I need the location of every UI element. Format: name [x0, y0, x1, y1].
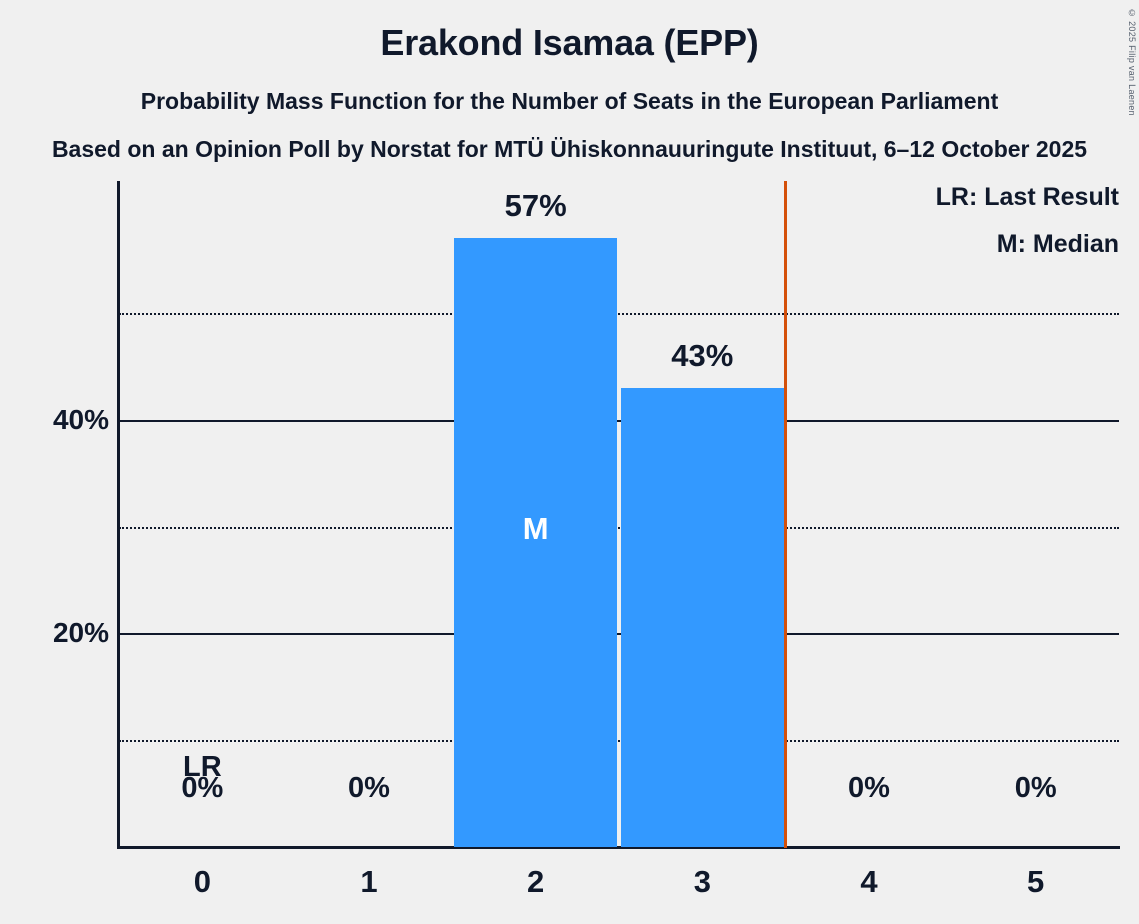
gridline-10	[119, 740, 1119, 742]
y-tick-label: 20%	[23, 617, 109, 649]
chart-page: Erakond Isamaa (EPP) Probability Mass Fu…	[0, 0, 1139, 924]
bar-value-label-seat-1: 0%	[287, 772, 451, 805]
chart-subtitle: Probability Mass Function for the Number…	[0, 88, 1139, 115]
chart-source-line: Based on an Opinion Poll by Norstat for …	[52, 136, 1087, 163]
page-title: Erakond Isamaa (EPP)	[0, 22, 1139, 64]
copyright-notice: © 2025 Filip van Laenen	[1127, 8, 1137, 116]
last-result-line	[784, 181, 787, 848]
x-axis-line	[117, 846, 1120, 849]
bar-seat-2[interactable]: M	[454, 238, 618, 847]
x-tick-label-5: 5	[952, 864, 1119, 900]
bar-value-label-seat-3: 43%	[621, 338, 785, 374]
y-axis-line	[117, 181, 120, 848]
x-tick-label-2: 2	[452, 864, 619, 900]
gridline-30	[119, 527, 1119, 529]
gridline-40	[119, 420, 1119, 422]
gridline-20	[119, 633, 1119, 635]
x-tick-label-4: 4	[786, 864, 953, 900]
x-tick-label-3: 3	[619, 864, 786, 900]
bar-seat-3[interactable]	[621, 388, 785, 847]
y-tick-label: 40%	[23, 404, 109, 436]
plot-area: 20%40% 0%LR0%M57%43%0%0% 012345 LR: Last…	[119, 181, 1119, 847]
x-tick-label-1: 1	[286, 864, 453, 900]
gridline-50	[119, 313, 1119, 315]
last-result-marker: LR	[121, 751, 285, 784]
bar-value-label-seat-2: 57%	[454, 188, 618, 224]
legend-last-result: LR: Last Result	[936, 183, 1119, 212]
x-tick-label-0: 0	[119, 864, 286, 900]
legend-median: M: Median	[997, 230, 1119, 259]
median-marker: M	[454, 511, 618, 547]
bar-value-label-seat-5: 0%	[954, 772, 1118, 805]
bar-value-label-seat-4: 0%	[787, 772, 951, 805]
